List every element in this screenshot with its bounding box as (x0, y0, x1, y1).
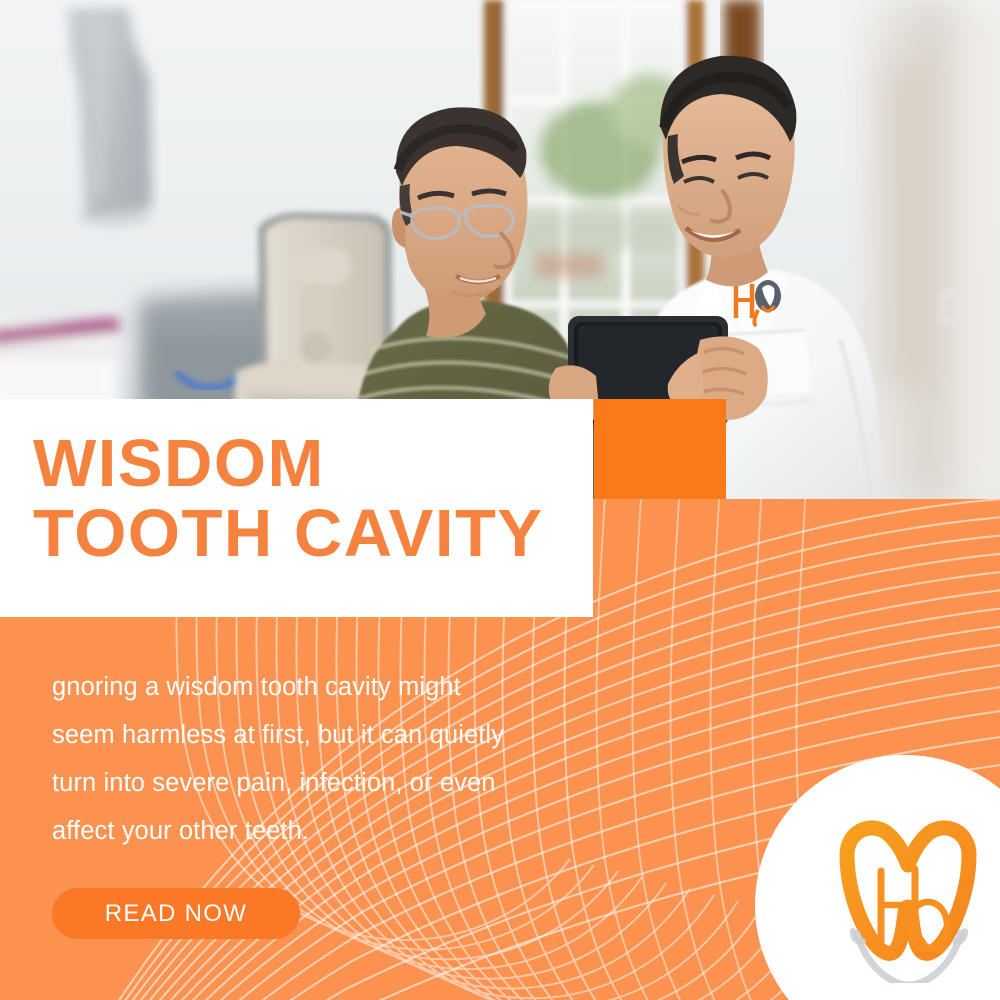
body-paragraph: gnoring a wisdom tooth cavity might seem… (52, 663, 652, 855)
social-post-poster: WISDOM TOOTH CAVITY gnoring a wisdom too… (0, 0, 1000, 1000)
accent-block (594, 399, 726, 501)
page-title: WISDOM TOOTH CAVITY (33, 429, 544, 569)
read-now-button[interactable]: READ NOW (52, 888, 300, 939)
headline-card: WISDOM TOOTH CAVITY (0, 399, 593, 617)
tooth-hq-logo-icon (823, 813, 993, 983)
